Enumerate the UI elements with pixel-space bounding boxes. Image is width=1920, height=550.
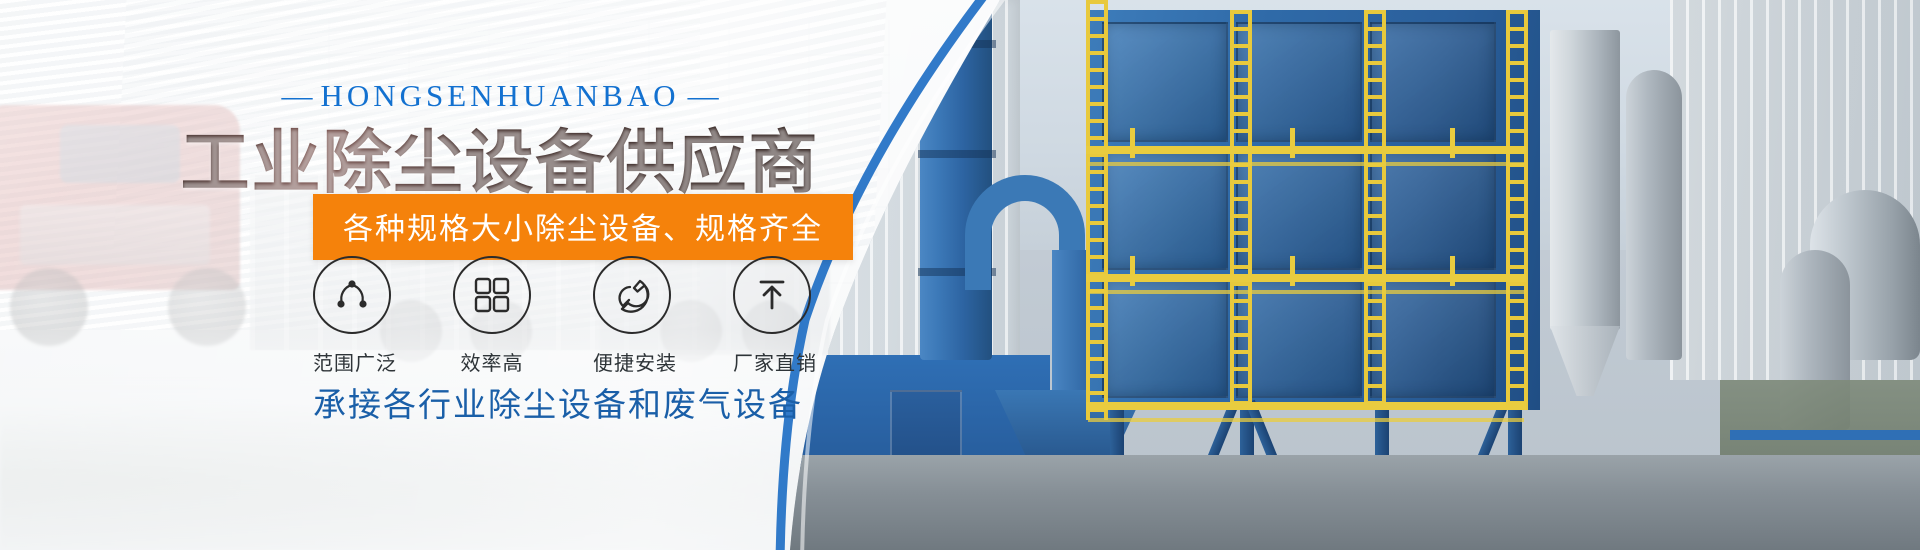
rail-post — [1290, 256, 1295, 286]
grey-cyclone — [1626, 70, 1682, 360]
hero-banner: —HONGSENHUANBAO— 工业除尘设备供应商 各种规格大小除尘设备、规格… — [0, 0, 1920, 550]
up-arrow-icon — [733, 256, 811, 334]
rail-post — [1130, 128, 1135, 158]
feature-item-installation[interactable]: 便捷安装 — [593, 256, 671, 376]
baghouse-panel — [1236, 278, 1362, 398]
feature-item-factory-direct[interactable]: 厂家直销 — [733, 256, 811, 376]
grey-silo — [1550, 30, 1620, 330]
yellow-handrail — [1086, 402, 1526, 410]
feature-label: 便捷安装 — [593, 347, 671, 376]
baghouse-panel — [1370, 278, 1496, 398]
hero-tagline: 承接各行业除尘设备和废气设备 — [313, 378, 803, 426]
rail-post — [1130, 256, 1135, 286]
baghouse-panel — [1102, 278, 1228, 398]
yellow-handrail — [1086, 274, 1526, 282]
yellow-ladder — [1230, 10, 1252, 410]
rail-post — [1450, 128, 1455, 158]
feature-label: 效率高 — [453, 347, 531, 376]
baghouse-panel — [1236, 150, 1362, 270]
yellow-ladder — [1086, 0, 1108, 420]
feature-item-range[interactable]: 范围广泛 — [313, 256, 391, 376]
feature-item-efficiency[interactable]: 效率高 — [453, 256, 531, 376]
feature-list: 范围广泛 效率高 — [313, 256, 811, 376]
rail-post — [1290, 128, 1295, 158]
baghouse-panel — [1102, 22, 1228, 142]
yellow-ladder — [1364, 10, 1386, 410]
grid-squares-icon — [453, 256, 531, 334]
baghouse-panel — [1370, 150, 1496, 270]
rail-post — [1450, 256, 1455, 286]
feature-label: 范围广泛 — [313, 347, 391, 376]
baghouse-panel — [1370, 22, 1496, 142]
page-title: 工业除尘设备供应商 — [0, 106, 1000, 206]
network-nodes-icon — [313, 256, 391, 334]
yellow-ladder — [1506, 10, 1528, 410]
blue-fence — [1730, 430, 1920, 440]
baghouse-panel — [1102, 150, 1228, 270]
wrench-icon — [593, 256, 671, 334]
silo-cone — [1550, 326, 1620, 396]
hero-content: —HONGSENHUANBAO— 工业除尘设备供应商 各种规格大小除尘设备、规格… — [0, 0, 1000, 550]
subtitle-banner: 各种规格大小除尘设备、规格齐全 — [313, 194, 853, 260]
baghouse-panel — [1236, 22, 1362, 142]
yellow-handrail — [1086, 146, 1526, 154]
feature-label: 厂家直销 — [733, 347, 811, 376]
